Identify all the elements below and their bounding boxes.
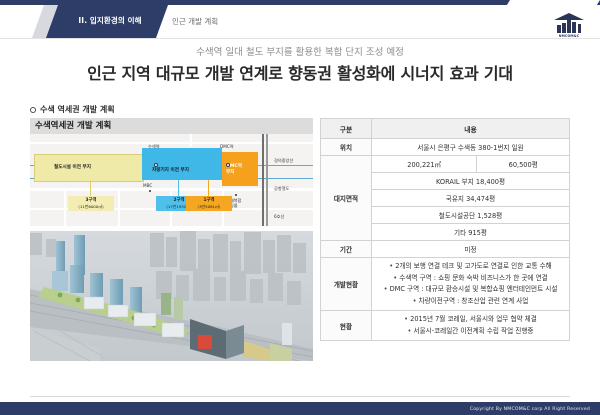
row-value-status: • 2015년 7월 코레일, 서울시와 업무 협약 체결 • 서울시-코레일간…: [372, 311, 570, 341]
row-label-site-area: 대지면적: [321, 156, 372, 241]
zone-callout-3: 3구역 (11만6000㎡): [68, 196, 114, 211]
parcel-label-depot: 차량기지 이전 부지: [152, 167, 189, 173]
page-title: 인근 지역 대규모 개발 연계로 향동권 활성화에 시너지 효과 기대: [0, 60, 600, 84]
poi-marker-mbc: [149, 190, 151, 192]
poi-marker-lotte: [235, 194, 237, 196]
bullet-icon: •: [393, 274, 397, 282]
road-horizontal: [30, 142, 313, 144]
site-area-sqm: 200,221㎡: [372, 156, 477, 173]
site-area-kric: 철도시설공단 1,528평: [372, 207, 570, 224]
development-item-text: 차량이전구역 : 창조산업 관련 연계 사업: [419, 297, 529, 305]
station-marker-susaek: [154, 163, 158, 167]
slide-root: II. 입지환경의 이해 인근 개발 계획 NMCOM&C 수색역 일대 철도 …: [0, 0, 600, 415]
section-heading: 수색 역세권 개발 계획: [30, 104, 115, 115]
table-row: 현황 • 2015년 7월 코레일, 서울시와 업무 협약 체결 • 서울시-코…: [321, 311, 570, 341]
status-item: • 서울시-코레일간 이전계획 수립 작업 진행중: [374, 326, 567, 338]
slide-subtitle: 수색역 일대 철도 부지를 활용한 복합 단지 조성 예정: [0, 44, 600, 58]
row-label-location: 위치: [321, 139, 372, 156]
parcel-label-railway: 철도시설 이전 부지: [54, 164, 91, 170]
status-item-text: 서울시-코레일간 이전계획 수립 작업 진행중: [414, 327, 534, 335]
site-area-korail: KORAIL 부지 18,400평: [372, 173, 570, 190]
circle-bullet-icon: [30, 107, 36, 113]
logo-building-icon: [557, 20, 581, 33]
status-item: • 2015년 7월 코레일, 서울시와 업무 협약 체결: [374, 314, 567, 326]
footer-bar: Copyright By NMCOM&C corp All Right Rese…: [0, 402, 600, 415]
table-row: 위치 서울시 은평구 수색동 380-1번지 일원: [321, 139, 570, 156]
slide-header: II. 입지환경의 이해 인근 개발 계획 NMCOM&C: [0, 5, 600, 39]
development-item: • 2개의 보행 연결 테크 및 고가도로 연결로 인한 교통 수해: [374, 261, 567, 273]
development-item: • 수색역 구역 : 쇼핑 문화 숙박 비즈니스가 한 곳에 연결: [374, 273, 567, 285]
table-row: 대지면적 200,221㎡ 60,500평: [321, 156, 570, 173]
station-label-susaek: 수색역: [148, 144, 160, 150]
station-marker-dmc: [226, 163, 230, 167]
bullet-icon: •: [384, 285, 388, 293]
road-vertical: [118, 188, 120, 226]
zone-3-area: (11만6000㎡): [70, 204, 112, 210]
station-label-dmc: DMC역: [220, 144, 234, 150]
breadcrumb: 인근 개발 계획: [172, 16, 218, 27]
footer-divider: [30, 396, 570, 397]
road-vertical: [64, 188, 66, 226]
row-label-period: 기간: [321, 241, 372, 258]
rail-label-gyeongui: 경의중앙선: [274, 158, 293, 164]
section-tab-label: II. 입지환경의 이해: [62, 15, 158, 26]
development-item-text: 수색역 구역 : 쇼핑 문화 숙박 비즈니스가 한 곳에 연결: [399, 274, 547, 282]
bullet-icon: •: [389, 262, 393, 270]
row-value-period: 미정: [372, 241, 570, 258]
bullet-icon: •: [404, 315, 408, 323]
zone-callout-1: 1구역 (3만5081㎡): [186, 196, 232, 211]
info-table: 구분 내용 위치 서울시 은평구 수색동 380-1번지 일원 대지면적 200…: [320, 118, 570, 341]
site-area-national: 국유지 34,474평: [372, 190, 570, 207]
development-rendering-image: [30, 231, 313, 361]
poi-label-mbc: MBC: [143, 183, 152, 188]
site-area-other: 기타 915평: [372, 224, 570, 241]
zone-1-area: (3만5081㎡): [188, 204, 230, 210]
road-vertical: [190, 134, 192, 146]
bullet-icon: •: [413, 297, 417, 305]
map-canvas: 철도시설 이전 부지 차량기지 이전 부지 DMC역부지 수색역 DMC역 경의…: [30, 134, 313, 226]
info-table-wrapper: 구분 내용 위치 서울시 은평구 수색동 380-1번지 일원 대지면적 200…: [320, 118, 570, 341]
table-row: 개발현황 • 2개의 보행 연결 테크 및 고가도로 연결로 인한 교통 수해 …: [321, 258, 570, 311]
development-item: • DMC 구역 : 대규모 환승시설 및 복합쇼핑 엔터테인먼트 시설: [374, 284, 567, 296]
rail-line-6: [262, 134, 264, 226]
company-logo: NMCOM&C: [554, 13, 584, 39]
development-item-text: DMC 구역 : 대규모 환승시설 및 복합쇼핑 엔터테인먼트 시설: [390, 285, 558, 293]
logo-wordmark: NMCOM&C: [554, 34, 584, 38]
site-area-pyeong: 60,500평: [477, 156, 570, 173]
section-heading-label: 수색 역세권 개발 계획: [40, 104, 115, 115]
map-title: 수색역세권 개발 계획: [30, 118, 313, 134]
logo-roof-icon: [554, 13, 584, 20]
row-label-development: 개발현황: [321, 258, 372, 311]
table-row: 기간 미정: [321, 241, 570, 258]
copyright-text: Copyright By NMCOM&C corp All Right Rese…: [470, 407, 590, 412]
row-value-location: 서울시 은평구 수색동 380-1번지 일원: [372, 139, 570, 156]
development-map: 수색역세권 개발 계획 철도시설 이전 부지 차량기지 이전 부지 DMC역부지: [30, 118, 313, 226]
bullet-icon: •: [408, 327, 412, 335]
development-item: • 차량이전구역 : 창조산업 관련 연계 사업: [374, 296, 567, 308]
rail-line-6-b: [266, 134, 268, 226]
row-value-development: • 2개의 보행 연결 테크 및 고가도로 연결로 인한 교통 수해 • 수색역…: [372, 258, 570, 311]
row-label-status: 현황: [321, 311, 372, 341]
rendering-illustration: [30, 231, 313, 361]
rail-label-line6: 6호선: [274, 214, 284, 220]
development-item-text: 2개의 보행 연결 테크 및 고가도로 연결로 인한 교통 수해: [395, 262, 552, 270]
rail-label-airport: 공항철도: [274, 186, 289, 192]
status-item-text: 2015년 7월 코레일, 서울시와 업무 협약 체결: [410, 315, 537, 323]
table-header-row: 구분 내용: [321, 119, 570, 139]
table-header-content: 내용: [372, 119, 570, 139]
table-header-category: 구분: [321, 119, 372, 139]
